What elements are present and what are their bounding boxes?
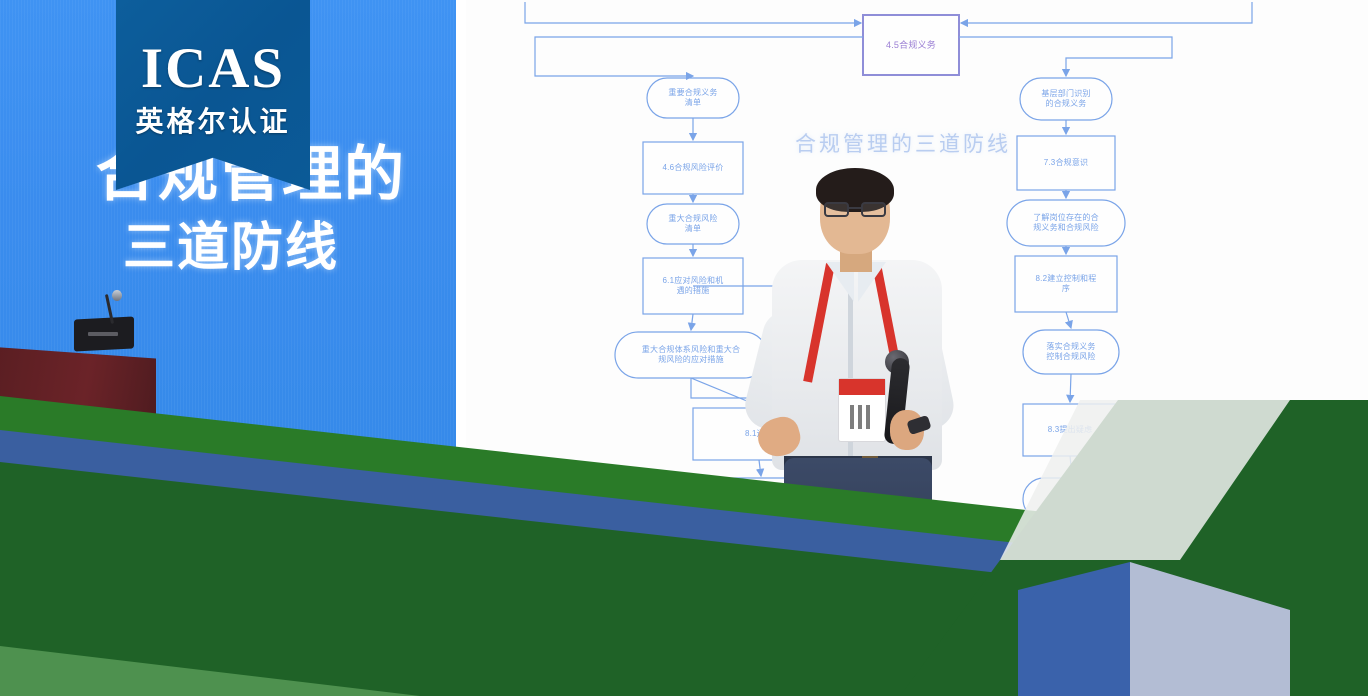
flow-connector [961,2,1252,23]
flow-node [647,78,739,118]
flow-node [643,142,743,194]
eyeglasses-icon [824,202,886,217]
badge-header [839,379,885,395]
name-badge [838,378,886,442]
podium [0,347,156,452]
flow-connector [959,37,1172,76]
audience-head [620,540,692,602]
speaker-person [740,160,990,620]
podium-console-panel [88,332,118,336]
qr-code-icon [850,405,874,429]
overlay-green-pale [0,646,420,696]
flow-node [1020,78,1112,120]
flow-connector [691,314,693,330]
flow-node [1023,478,1121,520]
flow-connector [1070,374,1071,402]
flow-node [863,15,959,75]
flow-connector [525,2,861,23]
conference-photo: 合规管理的 三道防线 ICAS ® 英格尔认证 合规管理的三道防线 4.5合规义… [0,0,1368,696]
audience-head [1176,556,1242,614]
flow-node [1015,256,1117,312]
flowchart-title: 合规管理的三道防线 [795,128,1011,158]
flow-node [1023,330,1119,374]
flow-connector [1066,312,1071,328]
flow-node [647,204,739,244]
icas-chinese-name: 英格尔认证 [116,100,310,140]
flow-connector [1070,456,1072,476]
flow-node [1017,136,1115,190]
microphone-head-icon [112,290,122,301]
backdrop-headline-line2: 三道防线 [123,205,339,280]
eyeglasses-bridge [848,207,862,209]
audience-head [1000,548,1070,608]
flow-node [1007,200,1125,246]
flow-connector [535,37,863,76]
icas-wordmark: ICAS [116,40,310,97]
flow-node [1023,404,1117,456]
